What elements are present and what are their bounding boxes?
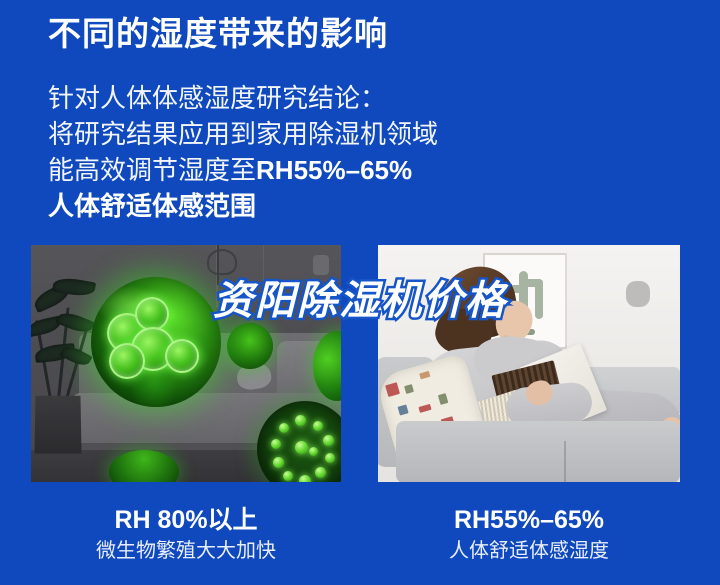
poster-root: 不同的湿度带来的影响 针对人体体感湿度研究结论： 将研究结果应用到家用除湿机领域… bbox=[0, 0, 720, 585]
copy-line-3-highlight: RH55%–65% bbox=[256, 155, 412, 185]
caption-subtitle: 人体舒适体感湿度 bbox=[378, 537, 680, 565]
germ-sphere-small bbox=[227, 323, 273, 369]
copy-line-4: 人体舒适体感范围 bbox=[48, 188, 518, 224]
plant-pot bbox=[34, 396, 81, 454]
body-copy-block: 针对人体体感湿度研究结论： 将研究结果应用到家用除湿机领域 能高效调节湿度至RH… bbox=[48, 80, 518, 224]
watermark-text: 资阳除湿机价格 bbox=[0, 268, 720, 326]
caption-title: RH 80%以上 bbox=[31, 505, 341, 535]
caption-comfort-humidity: RH55%–65% 人体舒适体感湿度 bbox=[378, 505, 680, 565]
page-title: 不同的湿度带来的影响 bbox=[48, 14, 388, 54]
sofa-seat bbox=[396, 421, 680, 482]
sofa-seam bbox=[564, 441, 566, 482]
caption-high-humidity: RH 80%以上 微生物繁殖大大加快 bbox=[31, 505, 341, 565]
caption-title: RH55%–65% bbox=[378, 505, 680, 535]
copy-line-3-prefix: 能高效调节湿度至 bbox=[48, 155, 256, 185]
copy-line-2: 将研究结果应用到家用除湿机领域 bbox=[48, 116, 518, 152]
copy-line-3: 能高效调节湿度至RH55%–65% bbox=[48, 152, 518, 188]
copy-line-1: 针对人体体感湿度研究结论： bbox=[48, 80, 518, 116]
caption-subtitle: 微生物繁殖大大加快 bbox=[31, 537, 341, 565]
